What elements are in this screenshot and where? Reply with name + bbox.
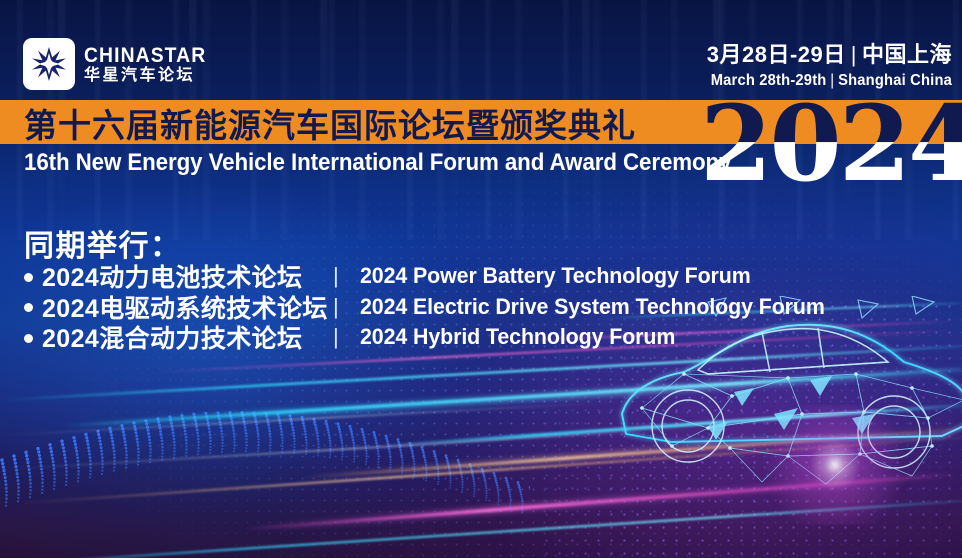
date-separator-en: |: [826, 72, 838, 89]
date-cn: 3月28日-29日: [707, 42, 846, 67]
forum-separator: |: [333, 324, 360, 350]
forum-name-en: 2024 Power Battery Technology Forum: [360, 263, 751, 289]
forum-separator: |: [333, 263, 360, 289]
date-location-cn: 3月28日-29日|中国上海: [698, 42, 952, 68]
event-title-cn: 第十六届新能源汽车国际论坛暨颁奖典礼: [24, 99, 744, 146]
location-cn: 中国上海: [862, 42, 952, 67]
brand-logo[interactable]: CHINASTAR 华星汽车论坛: [23, 38, 217, 90]
date-location-en: March 28th-29th|Shanghai China: [711, 71, 952, 90]
event-title-en: 16th New Energy Vehicle International Fo…: [24, 146, 712, 180]
location-en: Shanghai China: [838, 72, 952, 89]
brand-name-en: CHINASTAR: [84, 45, 206, 66]
event-year: 2024 2024: [700, 96, 962, 192]
event-date-location: 3月28日-29日|中国上海 March 28th-29th|Shanghai …: [698, 42, 952, 90]
brand-name-cn: 华星汽车论坛: [84, 68, 217, 84]
forum-name-en: 2024 Hybrid Technology Forum: [360, 324, 675, 350]
forum-separator: |: [333, 294, 360, 320]
brand-logo-text: CHINASTAR 华星汽车论坛: [84, 45, 217, 84]
headlight-glow-icon: [735, 405, 935, 525]
date-en: March 28th-29th: [711, 72, 827, 89]
dotted-wave-graphic: [0, 368, 530, 558]
star-burst-logo-icon: [23, 38, 75, 90]
bullet-icon: [24, 334, 33, 343]
forum-name-en: 2024 Electric Drive System Technology Fo…: [360, 294, 825, 320]
list-item: 2024混合动力技术论坛 | 2024 Hybrid Technology Fo…: [24, 322, 849, 353]
list-item: 2024电驱动系统技术论坛 | 2024 Electric Drive Syst…: [24, 292, 849, 323]
list-item: 2024动力电池技术论坛 | 2024 Power Battery Techno…: [24, 261, 849, 292]
poster-banner: CHINASTAR 华星汽车论坛 3月28日-29日|中国上海 March 28…: [0, 0, 962, 558]
date-separator-cn: |: [846, 42, 862, 67]
concurrent-forum-list: 2024动力电池技术论坛 | 2024 Power Battery Techno…: [24, 261, 849, 353]
bullet-icon: [24, 273, 33, 282]
bullet-icon: [24, 303, 33, 312]
forum-name-cn: 2024混合动力技术论坛: [42, 319, 333, 355]
